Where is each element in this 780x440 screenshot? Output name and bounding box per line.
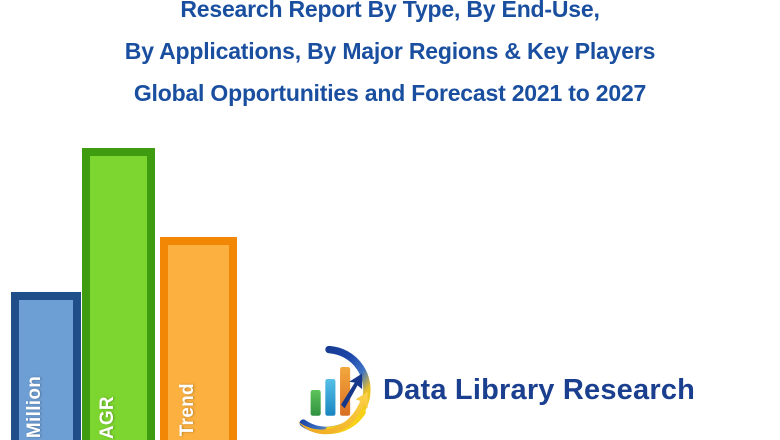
bar-usd-xx-million: USD XX Million [11,292,81,440]
headline-block: Research Report By Type, By End-Use, By … [0,0,780,114]
bar-usd-inner: USD XX Million [19,300,73,440]
market-research-banner: Research Report By Type, By End-Use, By … [0,0,780,440]
bar-cagr-inner: % CAGR [90,156,147,440]
bar-usd-label: USD XX Million [24,376,46,440]
headline-line-2: By Applications, By Major Regions & Key … [0,30,780,72]
bar-market-trend: Market Trend [160,237,237,440]
headline-line-3: Global Opportunities and Forecast 2021 t… [0,72,780,114]
logo-bar-orange [340,367,350,416]
ring-bar-chart-arrow-logo [283,344,375,436]
bar-trend-inner: Market Trend [168,245,229,440]
headline-line-1: Research Report By Type, By End-Use, [0,0,780,30]
logo-bar-green [311,390,321,416]
bar-percent-cagr: % CAGR [82,148,155,440]
brand-lockup: Data Library Research [283,344,695,436]
logo-bar-blue [325,379,335,416]
bar-trend-label: Market Trend [177,383,199,440]
bar-chart: USD XX Million % CAGR Market Trend [0,140,250,440]
bar-cagr-label: % CAGR [97,396,119,440]
brand-name: Data Library Research [383,374,695,407]
